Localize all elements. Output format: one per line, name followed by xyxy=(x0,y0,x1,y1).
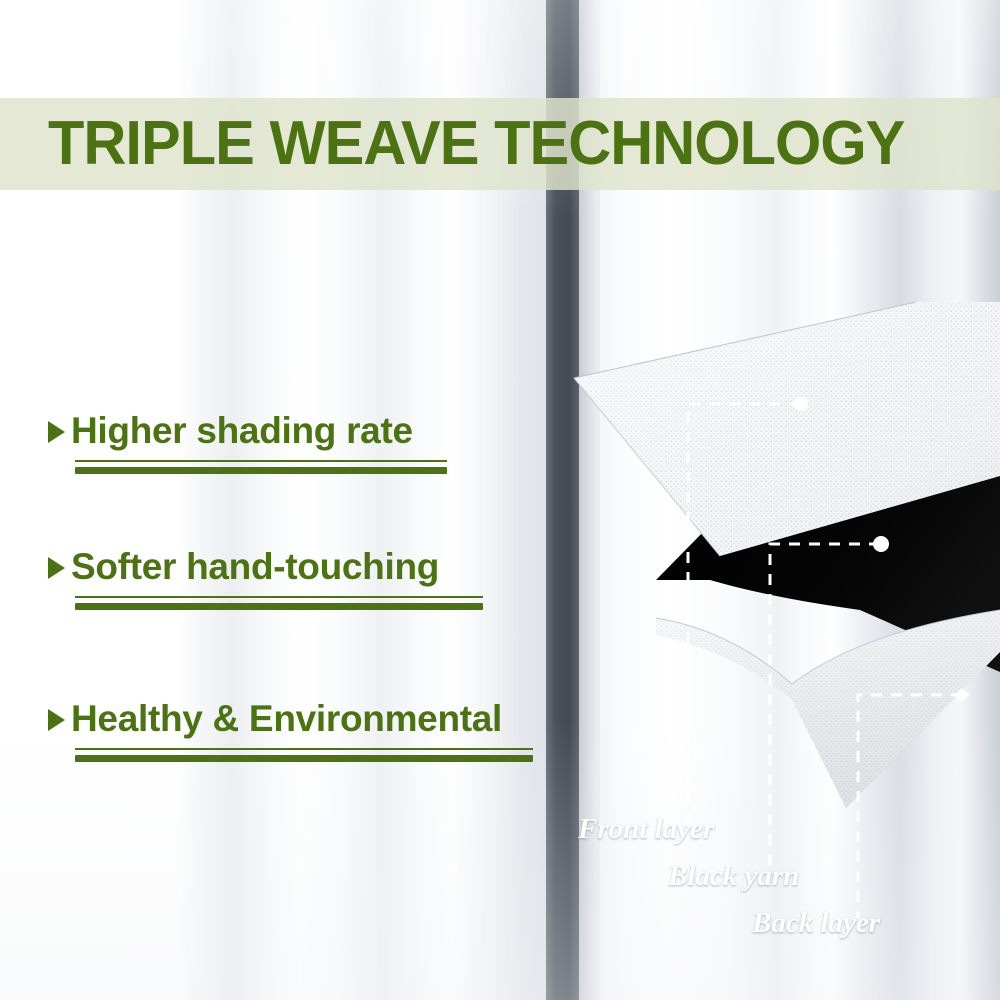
feature-item-2: Softer hand-touching xyxy=(48,548,439,587)
feature-item-1: Higher shading rate xyxy=(48,412,413,451)
rule-thick xyxy=(75,603,483,610)
feature-label-2: Softer hand-touching xyxy=(71,548,439,587)
product-infographic: TRIPLE WEAVE TECHNOLOGY Higher shading r… xyxy=(0,0,1000,1000)
triangle-right-icon xyxy=(48,421,65,443)
feature-rule-2 xyxy=(75,596,483,610)
fabric-layer-swatch xyxy=(560,280,1000,840)
feature-rule-3 xyxy=(75,748,533,762)
feature-list: Higher shading rate Softer hand-touching… xyxy=(0,0,560,1000)
triangle-right-icon xyxy=(48,709,65,731)
caption-back-layer: Back layer xyxy=(752,907,880,940)
caption-front-layer: Front layer xyxy=(578,813,714,846)
feature-label-3: Healthy & Environmental xyxy=(71,700,502,739)
caption-black-yarn: Black yarn xyxy=(668,860,799,893)
feature-label-1: Higher shading rate xyxy=(71,412,413,451)
rule-thin xyxy=(75,460,447,462)
rule-thin xyxy=(75,596,483,598)
rule-thick xyxy=(75,755,533,762)
rule-thick xyxy=(75,467,447,474)
layer-back xyxy=(656,610,1000,808)
rule-thin xyxy=(75,748,533,750)
feature-item-3: Healthy & Environmental xyxy=(48,700,502,739)
feature-rule-1 xyxy=(75,460,447,474)
triangle-right-icon xyxy=(48,557,65,579)
